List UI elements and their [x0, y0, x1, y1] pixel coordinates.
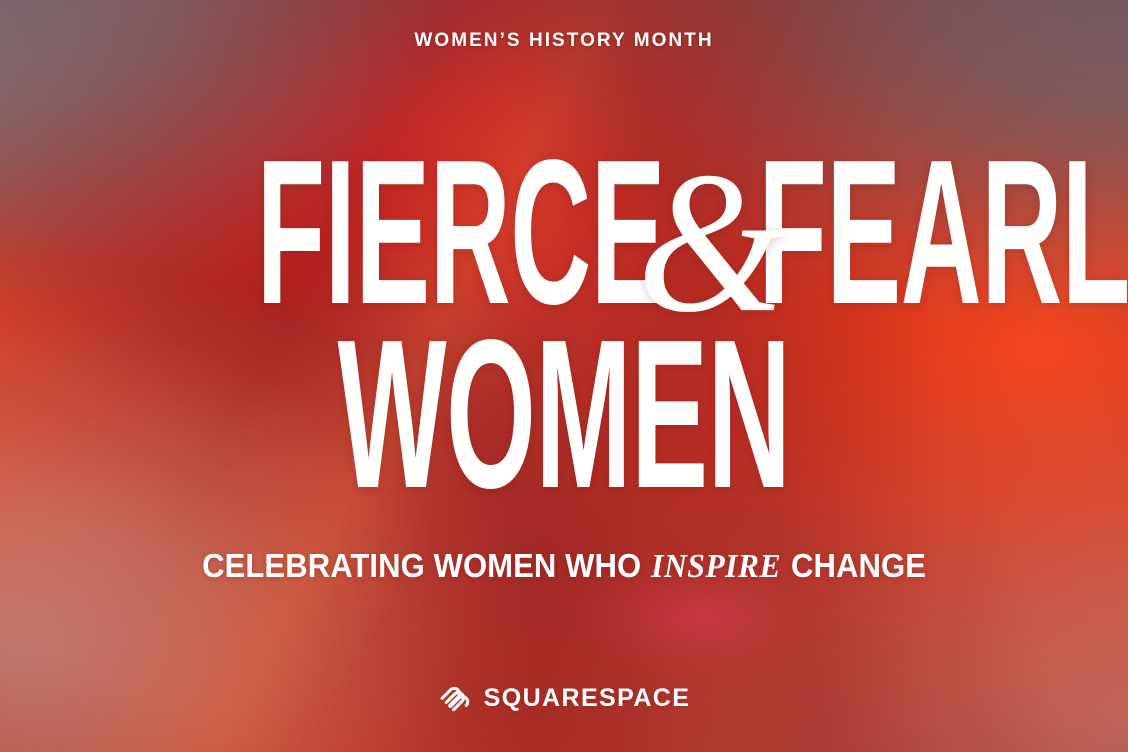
squarespace-lockup: SQUARESPACE	[0, 683, 1128, 713]
headline: FIERCE&FEARLESS WOMEN	[0, 150, 1128, 498]
tagline: CELEBRATING WOMEN WHO INSPIRE CHANGE	[0, 548, 1128, 585]
squarespace-wordmark: SQUARESPACE	[484, 686, 691, 711]
womens-history-month-poster: WOMEN’S HISTORY MONTH FIERCE&FEARLESS WO…	[0, 0, 1128, 752]
poster-content: WOMEN’S HISTORY MONTH FIERCE&FEARLESS WO…	[0, 0, 1128, 752]
tagline-after: CHANGE	[782, 547, 926, 584]
headline-line-1: FIERCE&FEARLESS	[257, 150, 872, 317]
tagline-inner: CELEBRATING WOMEN WHO INSPIRE CHANGE	[202, 548, 926, 585]
tagline-emphasis: INSPIRE	[650, 548, 782, 585]
tagline-before: CELEBRATING WOMEN WHO	[202, 547, 650, 584]
headline-word-fearless: FEARLESS	[758, 117, 1128, 347]
headline-line-2: WOMEN	[257, 329, 872, 499]
squarespace-logo-icon	[438, 683, 472, 713]
eyebrow-label: WOMEN’S HISTORY MONTH	[0, 31, 1128, 50]
